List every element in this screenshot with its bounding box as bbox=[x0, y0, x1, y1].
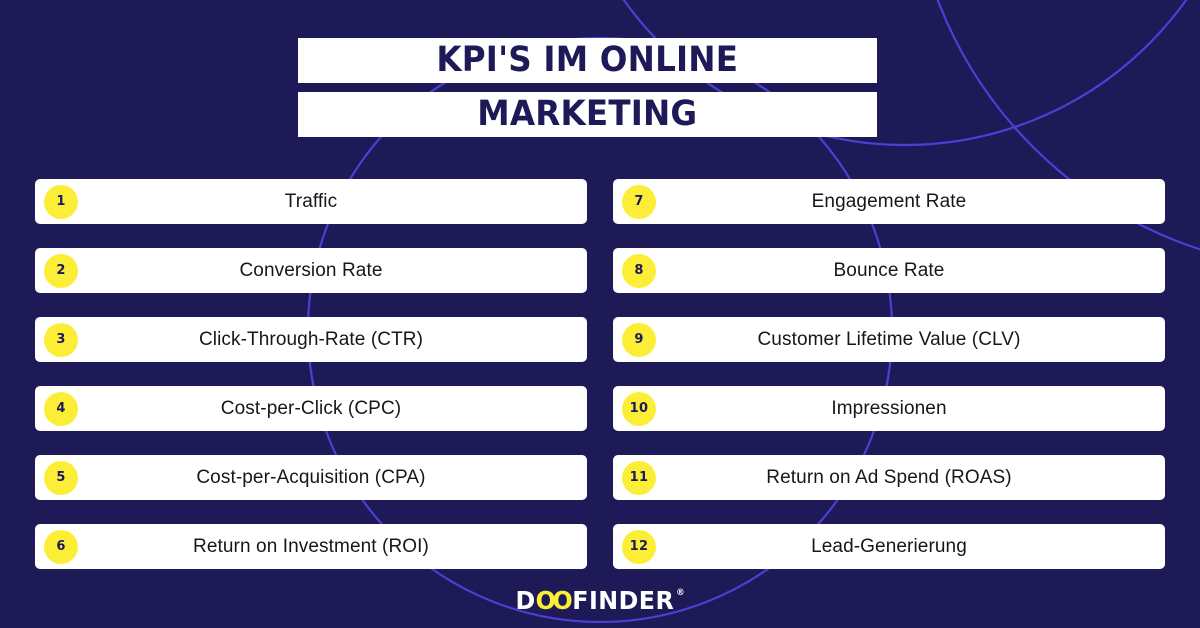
kpi-number-badge: 6 bbox=[44, 530, 78, 564]
infographic-canvas: KPI'S IM ONLINE MARKETING 1 Traffic 2 Co… bbox=[0, 0, 1200, 628]
title-box-line2: MARKETING bbox=[298, 92, 877, 137]
kpi-number-badge: 5 bbox=[44, 461, 78, 495]
logo-wordmark: DOOFINDER® bbox=[515, 588, 685, 613]
kpi-item[interactable]: 1 Traffic bbox=[35, 179, 587, 224]
kpi-number-badge: 10 bbox=[622, 392, 656, 426]
kpi-item[interactable]: 11 Return on Ad Spend (ROAS) bbox=[613, 455, 1165, 500]
title-block: KPI'S IM ONLINE MARKETING bbox=[298, 38, 877, 137]
kpi-item[interactable]: 4 Cost-per-Click (CPC) bbox=[35, 386, 587, 431]
kpi-list-right: 7 Engagement Rate 8 Bounce Rate 9 Custom… bbox=[613, 179, 1165, 569]
kpi-label: Bounce Rate bbox=[613, 260, 1165, 282]
logo-part-oo-icon: OO bbox=[535, 588, 569, 613]
logo-part-d: D bbox=[515, 588, 535, 613]
logo-part-finder: FINDER bbox=[572, 588, 674, 613]
kpi-item[interactable]: 8 Bounce Rate bbox=[613, 248, 1165, 293]
kpi-label: Impressionen bbox=[613, 398, 1165, 420]
kpi-label: Lead-Generierung bbox=[613, 536, 1165, 558]
kpi-item[interactable]: 10 Impressionen bbox=[613, 386, 1165, 431]
kpi-label: Click-Through-Rate (CTR) bbox=[35, 329, 587, 351]
kpi-number-badge: 2 bbox=[44, 254, 78, 288]
kpi-item[interactable]: 2 Conversion Rate bbox=[35, 248, 587, 293]
kpi-label: Return on Investment (ROI) bbox=[35, 536, 587, 558]
kpi-label: Return on Ad Spend (ROAS) bbox=[613, 467, 1165, 489]
kpi-number-badge: 11 bbox=[622, 461, 656, 495]
kpi-number-badge: 8 bbox=[622, 254, 656, 288]
kpi-number-badge: 9 bbox=[622, 323, 656, 357]
kpi-item[interactable]: 5 Cost-per-Acquisition (CPA) bbox=[35, 455, 587, 500]
kpi-item[interactable]: 12 Lead-Generierung bbox=[613, 524, 1165, 569]
kpi-number-badge: 3 bbox=[44, 323, 78, 357]
kpi-item[interactable]: 9 Customer Lifetime Value (CLV) bbox=[613, 317, 1165, 362]
title-line1: KPI'S IM ONLINE bbox=[437, 43, 739, 78]
kpi-number-badge: 4 bbox=[44, 392, 78, 426]
doofinder-logo[interactable]: DOOFINDER® bbox=[0, 588, 1200, 613]
kpi-number-badge: 7 bbox=[622, 185, 656, 219]
title-line2: MARKETING bbox=[477, 97, 697, 132]
kpi-list-left: 1 Traffic 2 Conversion Rate 3 Click-Thro… bbox=[35, 179, 587, 569]
kpi-item[interactable]: 6 Return on Investment (ROI) bbox=[35, 524, 587, 569]
kpi-item[interactable]: 7 Engagement Rate bbox=[613, 179, 1165, 224]
kpi-number-badge: 1 bbox=[44, 185, 78, 219]
kpi-label: Traffic bbox=[35, 191, 587, 213]
kpi-label: Conversion Rate bbox=[35, 260, 587, 282]
kpi-label: Customer Lifetime Value (CLV) bbox=[613, 329, 1165, 351]
kpi-label: Cost-per-Click (CPC) bbox=[35, 398, 587, 420]
kpi-number-badge: 12 bbox=[622, 530, 656, 564]
kpi-label: Cost-per-Acquisition (CPA) bbox=[35, 467, 587, 489]
kpi-label: Engagement Rate bbox=[613, 191, 1165, 213]
kpi-item[interactable]: 3 Click-Through-Rate (CTR) bbox=[35, 317, 587, 362]
registered-trademark-icon: ® bbox=[676, 589, 685, 598]
title-box-line1: KPI'S IM ONLINE bbox=[298, 38, 877, 83]
